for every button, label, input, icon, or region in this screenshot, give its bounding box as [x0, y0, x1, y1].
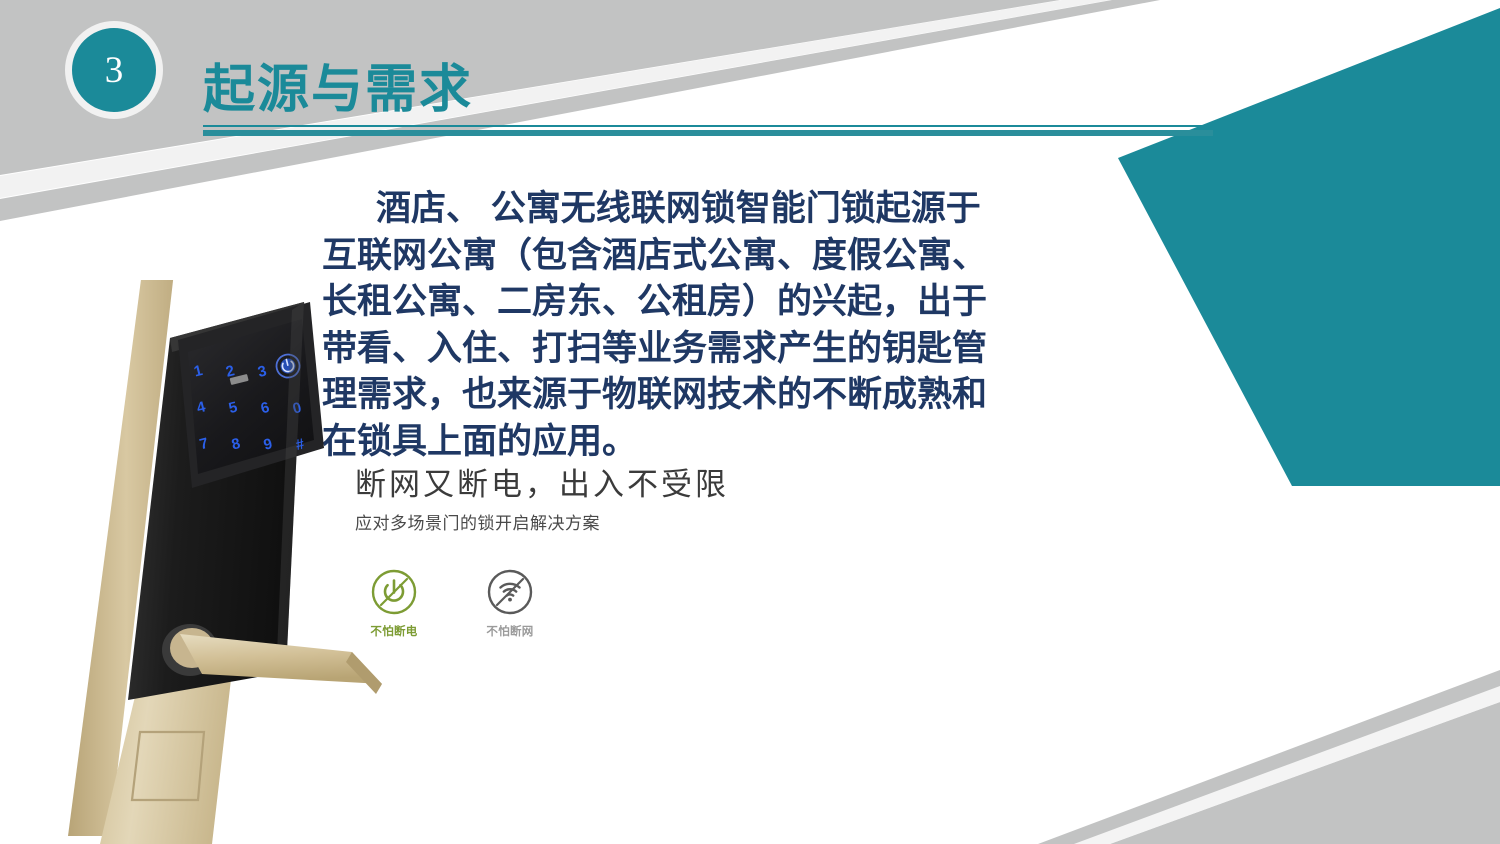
title-block: 起源与需求 — [203, 62, 1213, 136]
slide-number-text: 3 — [105, 52, 124, 89]
title-underline-thick — [203, 130, 1213, 136]
bottom-right-gray-band-secondary — [1030, 644, 1500, 844]
feature-no-network: 不怕断网 — [474, 567, 546, 639]
smart-door-lock-image: 1 2 3 4 5 6 0 7 8 9 # — [52, 280, 472, 844]
bottom-right-gray-band — [1030, 644, 1500, 844]
page-title: 起源与需求 — [203, 62, 1213, 118]
feature-label-no-network: 不怕断网 — [486, 623, 533, 639]
presentation-slide: 3 起源与需求 酒店、 公寓无线联网锁智能门锁起源于互联网公寓（包含酒店式公寓、… — [0, 0, 1500, 844]
no-wifi-icon — [485, 567, 535, 617]
slide-number-badge: 3 — [65, 21, 163, 119]
bottom-right-white-stripe — [1030, 644, 1500, 844]
title-underline-thin — [203, 125, 1213, 127]
